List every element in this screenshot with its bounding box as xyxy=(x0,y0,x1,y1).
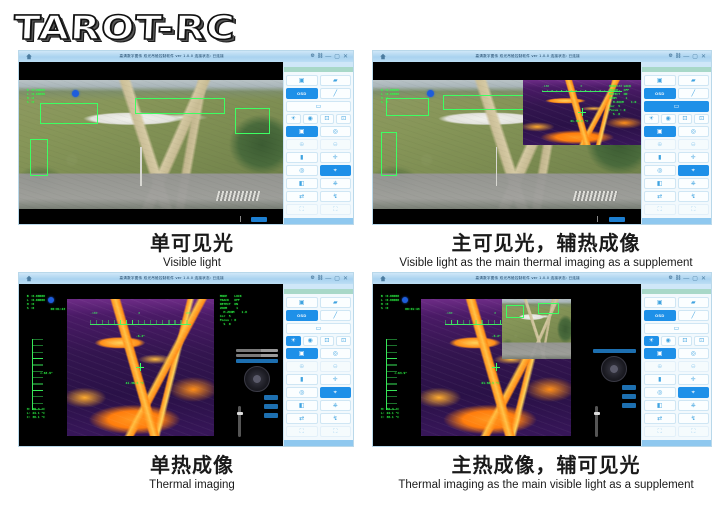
zoom-in-icon: ⊕ xyxy=(657,364,662,370)
swap-icon: ⇄ xyxy=(657,194,662,200)
brightness-button[interactable]: ☀ xyxy=(286,336,301,346)
level-bar-1[interactable] xyxy=(236,349,278,352)
camera-switch-icon: ▣ xyxy=(299,129,305,135)
zoom-out-button[interactable]: ⊖ xyxy=(320,361,352,372)
ruler-icon: ╱ xyxy=(333,91,337,97)
window-b-button[interactable]: ⊡ xyxy=(336,114,351,124)
crosswalk-markings xyxy=(573,191,618,201)
measure-button[interactable]: ╱ xyxy=(678,310,710,321)
sidebar-button-grid: ▣ ▰ OSD ╱ ▭ ☀ ◉ ⊡ xyxy=(284,296,353,440)
caption-english: Thermal imaging xyxy=(18,478,366,493)
titlebar-icon-group: ⚙ ⛓ xyxy=(668,276,681,281)
stage-action-button[interactable] xyxy=(609,217,625,222)
zoom-in-icon: ⊕ xyxy=(299,142,304,148)
window-b-button[interactable]: ⊡ xyxy=(694,336,709,346)
frame-right-button[interactable]: ⛶ xyxy=(678,204,710,215)
pip-icon: ▭ xyxy=(674,104,680,110)
target-icon: ◎ xyxy=(657,168,662,174)
compare-view-button[interactable]: ◧ xyxy=(286,400,318,411)
ruler-icon: ╱ xyxy=(333,313,337,319)
window-a-button[interactable]: ⊡ xyxy=(678,336,693,346)
track-person-button[interactable]: ⌖ xyxy=(320,387,352,398)
frame-left-icon: ⛶ xyxy=(300,429,304,435)
pip-icon: ▭ xyxy=(316,104,322,110)
frame-left-icon: ⛶ xyxy=(658,207,662,213)
target-marker-dot xyxy=(402,297,408,303)
measure-button[interactable]: ╱ xyxy=(320,310,352,321)
color-wheel-icon: ◉ xyxy=(308,338,313,344)
control-sidebar: ▣ ▰ OSD ╱ ▭ ☀ ◉ ⊡ xyxy=(641,284,711,446)
titlebar-icon-group: ⚙ ⛓ xyxy=(668,54,681,59)
track-person-button[interactable]: ⌖ xyxy=(678,165,710,176)
window-controls: — ▢ ✕ xyxy=(325,276,351,282)
panel-caption: 单可见光 Visible light xyxy=(18,231,366,271)
record-button[interactable]: ▰ xyxy=(678,75,710,86)
gear-icon[interactable]: ⚙ xyxy=(668,54,672,59)
gimbal-home-button[interactable]: ⎈ xyxy=(320,400,352,411)
focus-icon: ◎ xyxy=(333,129,338,135)
zoom-in-button[interactable]: ⊕ xyxy=(286,361,318,372)
image-swap-button[interactable]: ⇄ xyxy=(286,413,318,424)
pole-object xyxy=(140,147,141,186)
target-marker-dot xyxy=(48,297,54,303)
control-sidebar: ▣ ▰ OSD ╱ ▭ ☀ ◉ ⊡ xyxy=(283,62,353,224)
video-icon: ▰ xyxy=(333,300,338,306)
gimbal-joystick[interactable] xyxy=(601,356,627,382)
brightness-button[interactable]: ☀ xyxy=(286,114,301,124)
sidebar-footer-bar xyxy=(284,440,353,446)
focus-icon: ◎ xyxy=(691,129,696,135)
frame-right-button[interactable]: ⛶ xyxy=(320,426,352,437)
frame-left-button[interactable]: ⛶ xyxy=(286,204,318,215)
elevation-scale xyxy=(32,339,50,410)
frame-right-button[interactable]: ⛶ xyxy=(320,204,352,215)
split-view-icon: ◧ xyxy=(299,403,305,409)
thermal-control-column xyxy=(593,349,636,441)
frame-left-button[interactable]: ⛶ xyxy=(286,426,318,437)
close-button[interactable]: ✕ xyxy=(343,54,348,60)
window-controls: — ▢ ✕ xyxy=(683,276,709,282)
measure-button[interactable]: ╱ xyxy=(320,88,352,99)
window-title: 高清数字图传 双光吊舱控制软件 ver 1.0.0 连接状态: 已连接 xyxy=(387,276,668,281)
video-thermal: -180 0 180 -6.2° 41.36.5 °C xyxy=(67,299,215,437)
frame-a-icon: ⊡ xyxy=(682,116,687,122)
sidebar-footer-bar xyxy=(642,218,711,224)
hud-left-telemetry: B :0.00000 L :0.00000 H :0 S :0 xyxy=(381,294,399,310)
person-track-icon: ⌖ xyxy=(692,168,695,174)
panel-thermal: 高清数字图传 双光吊舱控制软件 ver 1.0.0 连接状态: 已连接 ⚙ ⛓ … xyxy=(18,272,366,493)
target-icon: ◎ xyxy=(299,168,304,174)
preset-button-1[interactable] xyxy=(622,385,636,390)
osd-toggle-button[interactable]: OSD xyxy=(286,88,318,99)
preset-button-1[interactable] xyxy=(264,395,278,400)
tilt-button[interactable]: ▮ xyxy=(644,152,676,163)
frame-b-icon: ⊡ xyxy=(699,338,704,344)
app-window: 高清数字图传 双光吊舱控制软件 ver 1.0.0 连接状态: 已连接 ⚙ ⛓ … xyxy=(372,50,712,225)
zoom-slider[interactable] xyxy=(595,406,598,437)
video-icon: ▰ xyxy=(333,78,338,84)
camera-switch-icon: ▣ xyxy=(657,129,663,135)
home-icon[interactable] xyxy=(379,53,387,60)
video-visible: B :0.00000 L :0.00000 H :0 S :0 -180 xyxy=(373,80,641,210)
aerial-visible-image xyxy=(19,80,283,210)
frame-right-icon: ⛶ xyxy=(691,207,695,213)
thermal-control-column xyxy=(236,349,278,441)
sidebar-status-strip xyxy=(284,67,353,72)
gimbal-home-button[interactable]: ⎈ xyxy=(678,178,710,189)
panel-visible-main: 高清数字图传 双光吊舱控制软件 ver 1.0.0 连接状态: 已连接 ⚙ ⛓ … xyxy=(372,50,720,271)
snapshot-button[interactable]: ▣ xyxy=(644,75,676,86)
maximize-button[interactable]: ▢ xyxy=(692,276,698,282)
link-icon[interactable]: ⛓ xyxy=(317,54,323,59)
tilt-button[interactable]: ▮ xyxy=(286,374,318,385)
compare-view-button[interactable]: ◧ xyxy=(644,400,676,411)
person-track-icon: ⌖ xyxy=(334,168,337,174)
caption-english: Visible light as the main thermal imagin… xyxy=(372,256,720,271)
window-b-button[interactable]: ⊡ xyxy=(694,114,709,124)
osd-toggle-button[interactable]: OSD xyxy=(644,88,676,99)
palette-button[interactable]: ◉ xyxy=(303,114,318,124)
pip-mode-button[interactable]: ▭ xyxy=(644,101,709,112)
thermal-image xyxy=(67,299,215,437)
video-visible: B :0.00000 L :0.00000 H :0 S :0 xyxy=(19,80,283,210)
pan-center-button[interactable]: ✛ xyxy=(320,152,352,163)
temperature-readouts: H: 38.3 °C L: 24.1 °C C: 30.1 °C xyxy=(27,407,45,419)
frame-b-icon: ⊡ xyxy=(341,116,346,122)
temperature-readouts: H: 38.3 °C L: 24.1 °C C: 30.1 °C xyxy=(381,407,399,419)
split-view-icon: ◧ xyxy=(657,403,663,409)
frame-b-icon: ⊡ xyxy=(699,116,704,122)
focus-auto-button[interactable]: ◎ xyxy=(678,348,710,359)
aerial-visible-image xyxy=(502,299,571,360)
color-wheel-icon: ◉ xyxy=(308,116,313,122)
sun-icon: ☀ xyxy=(291,338,296,344)
title-bar: 高清数字图传 双光吊舱控制软件 ver 1.0.0 连接状态: 已连接 ⚙ ⛓ … xyxy=(373,51,711,62)
frame-left-icon: ⛶ xyxy=(300,207,304,213)
frame-b-icon: ⊡ xyxy=(341,338,346,344)
home-icon[interactable] xyxy=(379,275,387,282)
panel-thermal-main: 高清数字图传 双光吊舱控制软件 ver 1.0.0 连接状态: 已连接 ⚙ ⛓ … xyxy=(372,272,720,493)
mission-timer: 00:01:43 xyxy=(51,307,65,311)
focus-auto-button[interactable]: ◎ xyxy=(320,348,352,359)
azimuth-readout: <-63.9° xyxy=(394,371,407,375)
measure-button[interactable]: ╱ xyxy=(678,88,710,99)
panel-grid: 高清数字图传 双光吊舱控制软件 ver 1.0.0 连接状态: 已连接 ⚙ ⛓ … xyxy=(0,50,720,517)
frame-a-icon: ⊡ xyxy=(324,338,329,344)
preset-button-2[interactable] xyxy=(264,404,278,409)
app-window: 高清数字图传 双光吊舱控制软件 ver 1.0.0 连接状态: 已连接 ⚙ ⛓ … xyxy=(18,272,354,447)
video-stage[interactable]: -180 0 180 -6.2° 41.36.5 °C B :0.00000 L… xyxy=(19,284,283,446)
color-wheel-icon: ◉ xyxy=(666,338,671,344)
minimize-button[interactable]: — xyxy=(683,54,689,60)
camera-switch-button[interactable]: ▣ xyxy=(644,126,676,137)
link-icon[interactable]: ⛓ xyxy=(675,54,681,59)
target-icon: ◎ xyxy=(657,390,662,396)
swap-icon: ⇄ xyxy=(299,416,304,422)
window-title: 高清数字图传 双光吊舱控制软件 ver 1.0.0 连接状态: 已连接 xyxy=(33,276,310,281)
record-button[interactable]: ▰ xyxy=(678,297,710,308)
sidebar-footer-bar xyxy=(642,440,711,446)
zoom-out-button[interactable]: ⊖ xyxy=(320,139,352,150)
video-stage[interactable]: -180 0 180 -6.2° 41.36.5 °C xyxy=(373,284,641,446)
elevation-scale xyxy=(386,339,405,410)
video-icon: ▰ xyxy=(691,300,696,306)
camera-switch-button[interactable]: ▣ xyxy=(644,348,676,359)
image-swap-button[interactable]: ⇄ xyxy=(644,191,676,202)
target-lock-button[interactable]: ◎ xyxy=(644,165,676,176)
tilt-icon: ▮ xyxy=(300,155,303,161)
frame-a-icon: ⊡ xyxy=(324,116,329,122)
window-controls: — ▢ ✕ xyxy=(325,54,351,60)
frame-right-icon: ⛶ xyxy=(333,429,337,435)
pip-icon: ▭ xyxy=(316,326,322,332)
minimize-button[interactable]: — xyxy=(683,276,689,282)
home-icon[interactable] xyxy=(25,275,33,282)
zoom-slider[interactable] xyxy=(238,406,241,437)
target-lock-button[interactable]: ◎ xyxy=(286,387,318,398)
zoom-in-button[interactable]: ⊕ xyxy=(644,139,676,150)
caption-english: Visible light xyxy=(18,256,366,271)
zoom-out-button[interactable]: ⊖ xyxy=(678,139,710,150)
stage-action-button[interactable] xyxy=(251,217,267,222)
video-stage[interactable]: B :0.00000 L :0.00000 H :0 S :0 -180 xyxy=(373,62,641,224)
laser-icon: ↯ xyxy=(691,416,696,422)
record-button[interactable]: ▰ xyxy=(320,297,352,308)
sidebar-status-strip xyxy=(642,289,711,294)
laser-button[interactable]: ↯ xyxy=(320,413,352,424)
move-cross-icon: ✛ xyxy=(333,377,338,383)
close-button[interactable]: ✕ xyxy=(343,276,348,282)
visible-pip-inset[interactable] xyxy=(502,299,571,360)
minimize-button[interactable]: — xyxy=(325,54,331,60)
pip-mode-button[interactable]: ▭ xyxy=(644,323,709,334)
pole-object xyxy=(496,147,497,186)
pan-center-button[interactable]: ✛ xyxy=(678,152,710,163)
track-person-button[interactable]: ⌖ xyxy=(678,387,710,398)
window-b-button[interactable]: ⊡ xyxy=(336,336,351,346)
person-track-icon: ⌖ xyxy=(334,390,337,396)
home-icon[interactable] xyxy=(25,53,33,60)
pan-center-button[interactable]: ✛ xyxy=(320,374,352,385)
panel-caption: 主热成像，辅可见光 Thermal imaging as the main vi… xyxy=(372,453,720,493)
swap-icon: ⇄ xyxy=(657,416,662,422)
move-cross-icon: ✛ xyxy=(333,155,338,161)
focus-icon: ◎ xyxy=(691,351,696,357)
gimbal-home-button[interactable]: ⎈ xyxy=(320,178,352,189)
camera-switch-button[interactable]: ▣ xyxy=(286,126,318,137)
camera-switch-icon: ▣ xyxy=(657,351,663,357)
frame-left-button[interactable]: ⛶ xyxy=(644,204,676,215)
swap-icon: ⇄ xyxy=(299,194,304,200)
palette-button[interactable]: ◉ xyxy=(661,114,676,124)
split-view-icon: ◧ xyxy=(299,181,305,187)
focus-auto-button[interactable]: ◎ xyxy=(678,126,710,137)
sidebar-footer-bar xyxy=(284,218,353,224)
caption-chinese: 主热成像，辅可见光 xyxy=(372,453,720,477)
split-view-icon: ◧ xyxy=(657,181,663,187)
palette-button[interactable]: ◉ xyxy=(303,336,318,346)
tilt-icon: ▮ xyxy=(658,377,661,383)
maximize-button[interactable]: ▢ xyxy=(692,54,698,60)
osd-toggle-button[interactable]: OSD xyxy=(644,310,676,321)
sun-icon: ☀ xyxy=(291,116,296,122)
window-title: 高清数字图传 双光吊舱控制软件 ver 1.0.0 连接状态: 已连接 xyxy=(387,54,668,59)
video-thermal: -180 0 180 -6.2° 41.36.5 °C xyxy=(421,299,571,437)
crosswalk-markings xyxy=(216,191,261,201)
pan-center-button[interactable]: ✛ xyxy=(678,374,710,385)
title-bar: 高清数字图传 双光吊舱控制软件 ver 1.0.0 连接状态: 已连接 ⚙ ⛓ … xyxy=(19,273,353,284)
gimbal-joystick[interactable] xyxy=(244,366,270,392)
level-bar-2[interactable] xyxy=(236,354,278,357)
compare-view-button[interactable]: ◧ xyxy=(286,178,318,189)
pip-mode-button[interactable]: ▭ xyxy=(286,323,351,334)
window-a-button[interactable]: ⊡ xyxy=(320,336,335,346)
target-lock-button[interactable]: ◎ xyxy=(644,387,676,398)
sidebar-button-grid: ▣ ▰ OSD ╱ ▭ ☀ ◉ ⊡ xyxy=(284,74,353,218)
preset-button-3[interactable] xyxy=(622,403,636,408)
control-sidebar: ▣ ▰ OSD ╱ ▭ ☀ ◉ ⊡ xyxy=(641,62,711,224)
frame-left-icon: ⛶ xyxy=(658,429,662,435)
laser-button[interactable]: ↯ xyxy=(320,191,352,202)
window-title: 高清数字图传 双光吊舱控制软件 ver 1.0.0 连接状态: 已连接 xyxy=(33,54,310,59)
color-wheel-icon: ◉ xyxy=(666,116,671,122)
tilt-button[interactable]: ▮ xyxy=(644,374,676,385)
frame-right-icon: ⛶ xyxy=(691,429,695,435)
gear-icon[interactable]: ⚙ xyxy=(310,276,314,281)
record-button[interactable]: ▰ xyxy=(320,75,352,86)
panel-caption: 单热成像 Thermal imaging xyxy=(18,453,366,493)
zoom-in-button[interactable]: ⊕ xyxy=(286,139,318,150)
sun-icon: ☀ xyxy=(649,116,654,122)
title-bar: 高清数字图传 双光吊舱控制软件 ver 1.0.0 连接状态: 已连接 ⚙ ⛓ … xyxy=(19,51,353,62)
focus-icon: ◎ xyxy=(333,351,338,357)
panel-caption: 主可见光，辅热成像 Visible light as the main ther… xyxy=(372,231,720,271)
apply-button[interactable] xyxy=(593,349,636,353)
maximize-button[interactable]: ▢ xyxy=(334,276,340,282)
app-window: 高清数字图传 双光吊舱控制软件 ver 1.0.0 连接状态: 已连接 ⚙ ⛓ … xyxy=(18,50,354,225)
sidebar-button-grid: ▣ ▰ OSD ╱ ▭ ☀ ◉ ⊡ xyxy=(642,296,711,440)
zoom-out-button[interactable]: ⊖ xyxy=(678,361,710,372)
zoom-in-icon: ⊕ xyxy=(657,142,662,148)
maximize-button[interactable]: ▢ xyxy=(334,54,340,60)
pip-mode-button[interactable]: ▭ xyxy=(286,101,351,112)
zoom-out-icon: ⊖ xyxy=(333,142,338,148)
gear-icon[interactable]: ⚙ xyxy=(668,276,672,281)
preset-button-3[interactable] xyxy=(264,413,278,418)
mission-timer: 00:01:43 xyxy=(405,307,419,311)
sidebar-status-strip xyxy=(284,289,353,294)
laser-button[interactable]: ↯ xyxy=(678,191,710,202)
tilt-button[interactable]: ▮ xyxy=(286,152,318,163)
link-icon[interactable]: ⛓ xyxy=(675,276,681,281)
snapshot-button[interactable]: ▣ xyxy=(286,297,318,308)
zoom-in-button[interactable]: ⊕ xyxy=(644,361,676,372)
brightness-button[interactable]: ☀ xyxy=(644,336,659,346)
palette-button[interactable]: ◉ xyxy=(661,336,676,346)
close-button[interactable]: ✕ xyxy=(701,276,706,282)
snapshot-button[interactable]: ▣ xyxy=(644,297,676,308)
stage-tick xyxy=(240,216,241,222)
azimuth-readout: <-63.9° xyxy=(40,371,53,375)
zoom-out-icon: ⊖ xyxy=(691,364,696,370)
frame-a-icon: ⊡ xyxy=(682,338,687,344)
minimize-button[interactable]: — xyxy=(325,276,331,282)
hud-left-telemetry: B :0.00000 L :0.00000 H :0 S :0 xyxy=(27,294,45,310)
gimbal-icon: ⎈ xyxy=(333,403,338,409)
image-swap-button[interactable]: ⇄ xyxy=(286,191,318,202)
frame-left-button[interactable]: ⛶ xyxy=(644,426,676,437)
zoom-out-icon: ⊖ xyxy=(333,364,338,370)
caption-english: Thermal imaging as the main visible ligh… xyxy=(372,478,720,493)
hud-right-status: MODE LOCK TRACK OFF DETECT ON ZOOM 1 H.Z… xyxy=(220,294,247,326)
preset-button-2[interactable] xyxy=(622,394,636,399)
video-icon: ▰ xyxy=(691,78,696,84)
camera-icon: ▣ xyxy=(657,78,663,84)
thermal-image xyxy=(523,80,641,145)
gear-icon[interactable]: ⚙ xyxy=(310,54,314,59)
gimbal-icon: ⎈ xyxy=(691,403,696,409)
ruler-icon: ╱ xyxy=(691,91,695,97)
image-swap-button[interactable]: ⇄ xyxy=(644,413,676,424)
laser-icon: ↯ xyxy=(691,194,696,200)
camera-icon: ▣ xyxy=(299,78,305,84)
pip-icon: ▭ xyxy=(674,326,680,332)
target-lock-button[interactable]: ◎ xyxy=(286,165,318,176)
brightness-button[interactable]: ☀ xyxy=(644,114,659,124)
caption-chinese: 单热成像 xyxy=(18,453,366,477)
track-person-button[interactable]: ⌖ xyxy=(320,165,352,176)
slider-handle[interactable] xyxy=(237,412,243,415)
window-a-button[interactable]: ⊡ xyxy=(320,114,335,124)
close-button[interactable]: ✕ xyxy=(701,54,706,60)
person-track-icon: ⌖ xyxy=(692,390,695,396)
window-controls: — ▢ ✕ xyxy=(683,54,709,60)
zoom-out-icon: ⊖ xyxy=(691,142,696,148)
sidebar-button-grid: ▣ ▰ OSD ╱ ▭ ☀ ◉ ⊡ xyxy=(642,74,711,218)
frame-right-button[interactable]: ⛶ xyxy=(678,426,710,437)
apply-button[interactable] xyxy=(236,359,278,363)
camera-icon: ▣ xyxy=(299,300,305,306)
osd-toggle-button[interactable]: OSD xyxy=(286,310,318,321)
panel-visible: 高清数字图传 双光吊舱控制软件 ver 1.0.0 连接状态: 已连接 ⚙ ⛓ … xyxy=(18,50,366,271)
camera-switch-icon: ▣ xyxy=(299,351,305,357)
gimbal-home-button[interactable]: ⎈ xyxy=(678,400,710,411)
move-cross-icon: ✛ xyxy=(691,377,696,383)
focus-auto-button[interactable]: ◎ xyxy=(320,126,352,137)
laser-button[interactable]: ↯ xyxy=(678,413,710,424)
video-stage[interactable]: B :0.00000 L :0.00000 H :0 S :0 xyxy=(19,62,283,224)
compare-view-button[interactable]: ◧ xyxy=(644,178,676,189)
brand-logo: TAROT-RC xyxy=(13,8,236,47)
caption-chinese: 主可见光，辅热成像 xyxy=(372,231,720,255)
titlebar-icon-group: ⚙ ⛓ xyxy=(310,54,323,59)
frame-right-icon: ⛶ xyxy=(333,207,337,213)
thermal-pip-inset[interactable]: -180 0 180 MODE LOCK TRACK OFF DETECT ON… xyxy=(523,80,641,145)
ruler-icon: ╱ xyxy=(691,313,695,319)
laser-icon: ↯ xyxy=(333,416,338,422)
tilt-icon: ▮ xyxy=(658,155,661,161)
stage-tick xyxy=(597,216,598,222)
camera-switch-button[interactable]: ▣ xyxy=(286,348,318,359)
control-sidebar: ▣ ▰ OSD ╱ ▭ ☀ ◉ ⊡ xyxy=(283,284,353,446)
snapshot-button[interactable]: ▣ xyxy=(286,75,318,86)
window-a-button[interactable]: ⊡ xyxy=(678,114,693,124)
gimbal-icon: ⎈ xyxy=(333,181,338,187)
sidebar-status-strip xyxy=(642,67,711,72)
laser-icon: ↯ xyxy=(333,194,338,200)
link-icon[interactable]: ⛓ xyxy=(317,276,323,281)
slider-handle[interactable] xyxy=(594,412,600,415)
